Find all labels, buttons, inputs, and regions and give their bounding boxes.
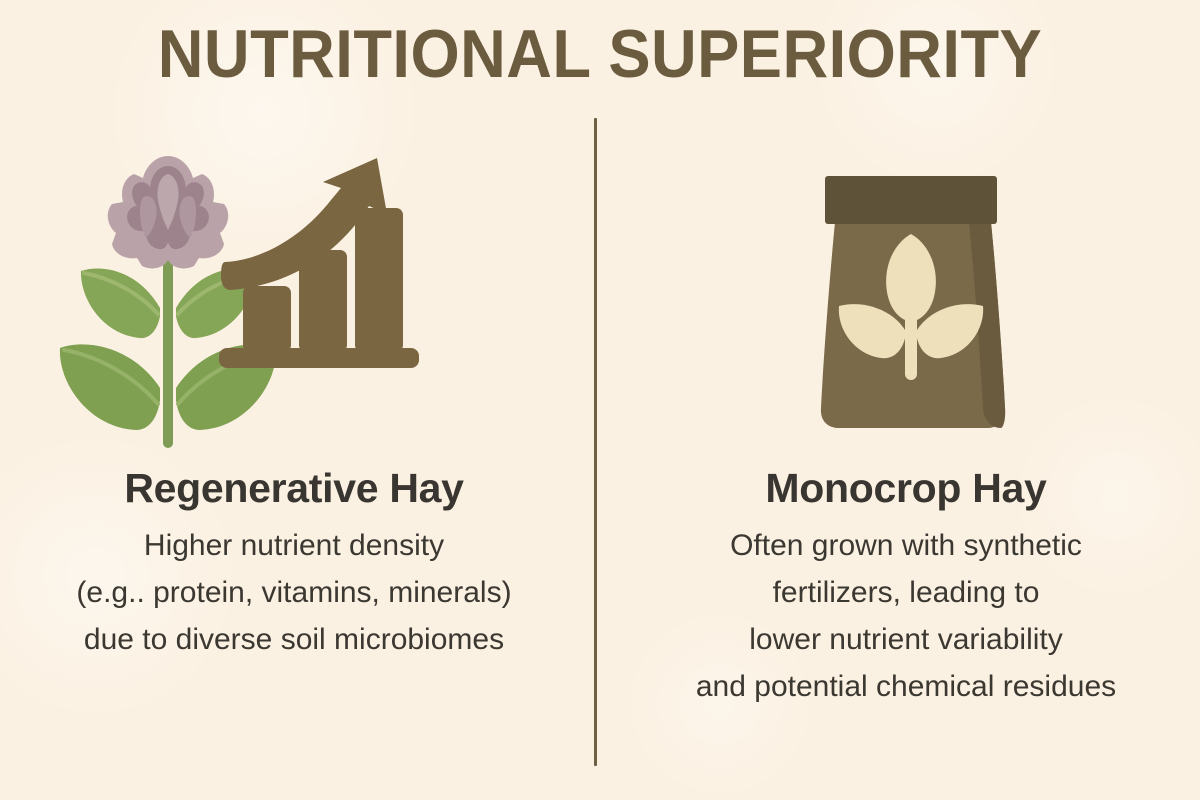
column-regenerative: Regenerative Hay Higher nutrient density… [14, 130, 574, 770]
sack-top-band [825, 176, 997, 224]
column-monocrop: Monocrop Hay Often grown with synthetic … [626, 130, 1186, 770]
description-line: Higher nutrient density [14, 522, 574, 569]
description-line: fertilizers, leading to [626, 569, 1186, 616]
description-line: due to diverse soil microbiomes [14, 616, 574, 663]
description-monocrop: Often grown with synthetic fertilizers, … [626, 522, 1186, 710]
description-regenerative: Higher nutrient density (e.g.. protein, … [14, 522, 574, 663]
infographic-canvas: NUTRITIONAL SUPERIORITY [0, 0, 1200, 800]
description-line: (e.g.. protein, vitamins, minerals) [14, 569, 574, 616]
illustration-monocrop [626, 130, 1186, 450]
description-line: Often grown with synthetic [626, 522, 1186, 569]
bar-1 [243, 286, 291, 352]
page-title: NUTRITIONAL SUPERIORITY [42, 16, 1158, 92]
heading-regenerative: Regenerative Hay [14, 462, 574, 514]
stem-icon [163, 256, 173, 448]
description-line: lower nutrient variability [626, 616, 1186, 663]
bar-2 [299, 250, 347, 352]
bar-chart-growth-icon [219, 140, 419, 380]
illustration-regenerative [14, 130, 574, 450]
vertical-divider [594, 118, 597, 766]
heading-monocrop: Monocrop Hay [626, 462, 1186, 514]
description-line: and potential chemical residues [626, 663, 1186, 710]
bar-3 [355, 208, 403, 352]
feed-sack-icon [791, 152, 1031, 442]
